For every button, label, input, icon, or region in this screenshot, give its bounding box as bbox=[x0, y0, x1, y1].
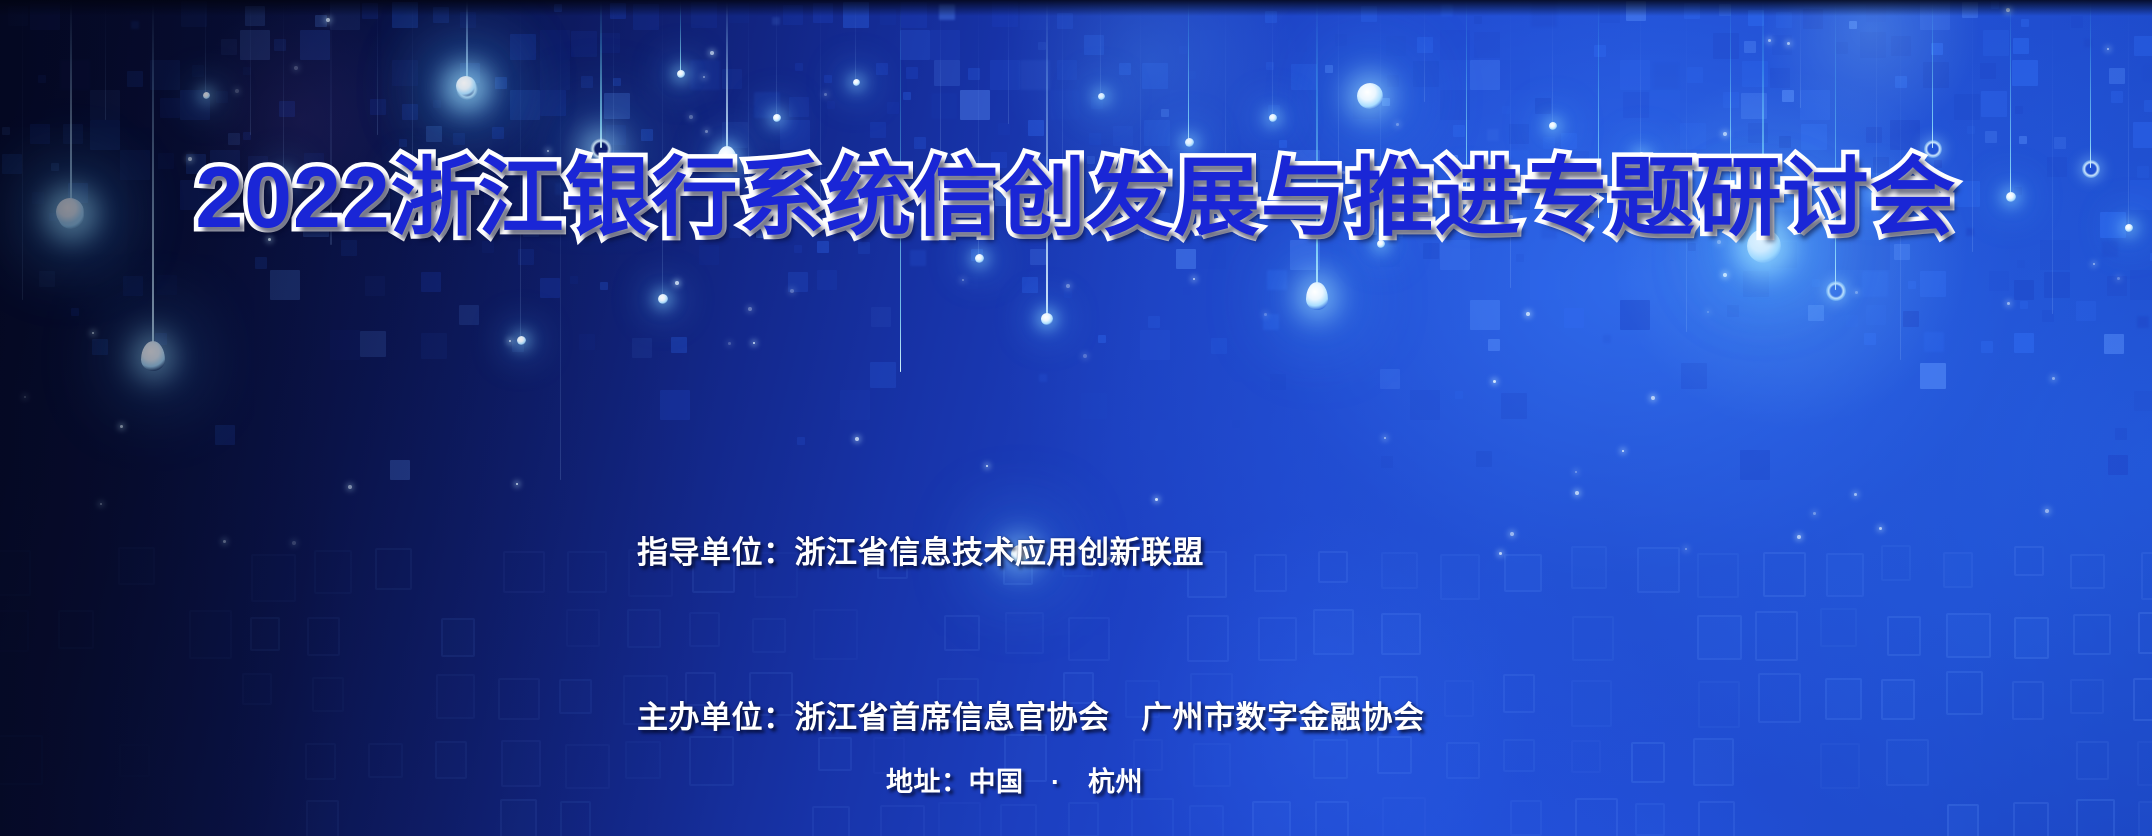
soft-glow bbox=[1610, 70, 1970, 430]
conference-banner: 2022浙江银行系统信创发展与推进专题研讨会 指导单位：浙江省信息技术应用创新联… bbox=[0, 0, 2152, 836]
page-title: 2022浙江银行系统信创发展与推进专题研讨会 bbox=[195, 152, 1956, 245]
event-details-block: 地址：中国 · 杭州 时间：2022年11月24日 bbox=[886, 680, 1174, 836]
title-container: 2022浙江银行系统信创发展与推进专题研讨会 bbox=[0, 152, 2152, 245]
event-location: 地址：中国 · 杭州 bbox=[886, 762, 1174, 803]
soft-glow bbox=[1760, 0, 1980, 140]
organizer-line-guidance: 指导单位：浙江省信息技术应用创新联盟 bbox=[637, 525, 1425, 580]
